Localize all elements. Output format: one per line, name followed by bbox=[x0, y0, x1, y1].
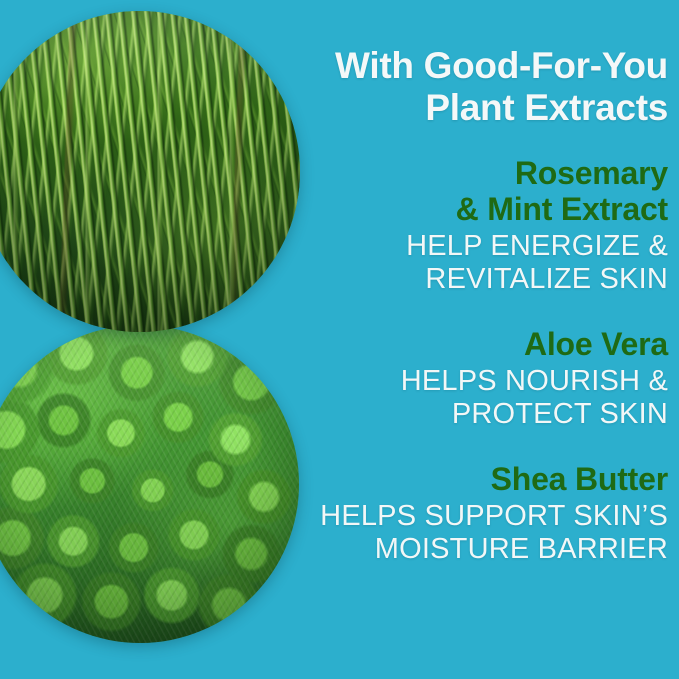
benefit-description-line-2: PROTECT SKIN bbox=[238, 398, 668, 431]
benefit-heading-line-1: Rosemary bbox=[238, 155, 668, 191]
benefit-description-line-1: HELPS SUPPORT SKIN’S bbox=[238, 500, 668, 533]
benefit-description-line-2: MOISTURE BARRIER bbox=[238, 533, 668, 566]
page-title-line-1: With Good-For-You bbox=[238, 45, 668, 87]
benefit-description: HELPS SUPPORT SKIN’S MOISTURE BARRIER bbox=[238, 500, 668, 566]
benefit-heading: Rosemary & Mint Extract bbox=[238, 155, 668, 227]
benefit-rosemary-mint: Rosemary & Mint Extract HELP ENERGIZE & … bbox=[238, 155, 668, 296]
benefit-aloe-vera: Aloe Vera HELPS NOURISH & PROTECT SKIN bbox=[238, 326, 668, 431]
benefit-description-line-1: HELP ENERGIZE & bbox=[238, 230, 668, 263]
benefit-heading-line-1: Shea Butter bbox=[238, 461, 668, 497]
page-title: With Good-For-You Plant Extracts bbox=[238, 0, 668, 129]
benefit-heading: Shea Butter bbox=[238, 461, 668, 497]
benefit-heading-line-1: Aloe Vera bbox=[238, 326, 668, 362]
benefits-text-column: With Good-For-You Plant Extracts Rosemar… bbox=[238, 0, 668, 566]
benefit-description: HELP ENERGIZE & REVITALIZE SKIN bbox=[238, 230, 668, 296]
benefit-description-line-1: HELPS NOURISH & bbox=[238, 365, 668, 398]
benefit-heading-line-2: & Mint Extract bbox=[238, 191, 668, 227]
benefit-description: HELPS NOURISH & PROTECT SKIN bbox=[238, 365, 668, 431]
benefit-heading: Aloe Vera bbox=[238, 326, 668, 362]
product-benefits-banner: With Good-For-You Plant Extracts Rosemar… bbox=[0, 0, 679, 679]
page-title-line-2: Plant Extracts bbox=[238, 87, 668, 129]
benefit-shea-butter: Shea Butter HELPS SUPPORT SKIN’S MOISTUR… bbox=[238, 461, 668, 566]
benefit-description-line-2: REVITALIZE SKIN bbox=[238, 263, 668, 296]
